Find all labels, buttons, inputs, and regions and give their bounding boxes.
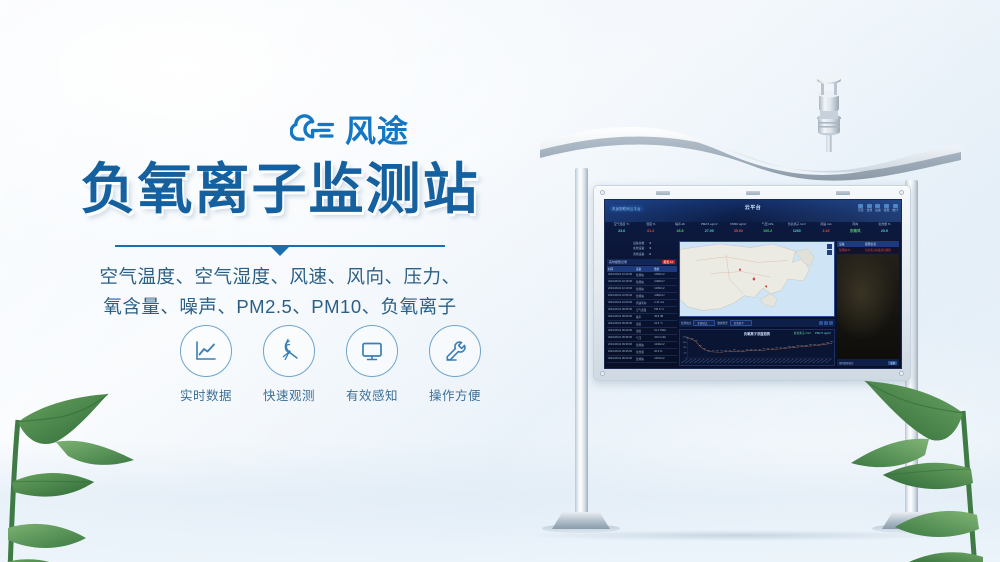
trend-chart[interactable]: 负氧离子浓度趋势 负氧离子 /cm³ PM2.5 ug/m³ 055011001… — [679, 329, 835, 366]
svg-text:880: 880 — [767, 348, 770, 350]
dashboard-title: 云平台 — [605, 204, 901, 211]
support-post-left — [575, 168, 588, 516]
chart-zoom-out-button[interactable] — [824, 321, 828, 325]
table-cell: 45.8 dB — [653, 314, 677, 320]
table-row[interactable]: 2023-08-01 09:30:00监测站1240/cm³ — [607, 342, 677, 349]
svg-text:1960: 1960 — [690, 338, 694, 340]
map-zoom-in-button[interactable] — [827, 244, 832, 249]
svg-text:1480: 1480 — [826, 342, 830, 344]
dashboard-body: 设备总数3在线设备3离线设备0 实时报警记录 报警 12 时间设备数值2023-… — [607, 241, 899, 366]
brand-name: 风途 — [345, 116, 409, 147]
device-summary-row: 离线设备0 — [607, 252, 677, 257]
frame-screw — [899, 190, 904, 195]
right-panel: 设备 报警信息 监测站 01 负氧离子浓度超出阈值 现场视频监控 全屏 — [837, 241, 899, 366]
alert-section-header: 实时报警记录 报警 12 — [607, 259, 677, 265]
table-cell: PM 27.0 — [653, 307, 677, 313]
svg-text:1100: 1100 — [792, 346, 795, 348]
kpi-value: 2.10 — [811, 229, 840, 233]
table-cell: 2023-08-01 09:50:00 — [607, 314, 635, 320]
feature-item-realtime-data: 实时数据 — [178, 325, 234, 404]
svg-text:790: 790 — [754, 349, 757, 351]
table-cell: 监测站 — [635, 293, 653, 299]
svg-text:900: 900 — [771, 348, 774, 350]
kpi-card: 噪声 db45.8 — [665, 222, 694, 240]
feature-label: 实时数据 — [178, 385, 234, 404]
svg-text:1290: 1290 — [813, 344, 817, 346]
svg-text:550: 550 — [684, 352, 687, 354]
video-fullscreen-button[interactable]: 全屏 — [888, 361, 897, 365]
nav-label: 报警 — [884, 208, 890, 212]
kpi-value: 1260 — [782, 229, 811, 233]
svg-text:1700: 1700 — [695, 340, 699, 342]
svg-text:860: 860 — [703, 348, 706, 350]
table-cell: 20.9 % — [653, 349, 677, 355]
kpi-card: PM2.5 ug/m³27.00 — [695, 222, 724, 240]
page-title: 负氧离子监测站 — [0, 160, 560, 219]
kpi-label: 风向 — [841, 223, 870, 227]
table-row[interactable]: 2023-08-01 10:05:00监测站1180/cm³ — [607, 293, 677, 300]
table-cell: 2023-08-01 10:20:05 — [607, 272, 635, 278]
table-row[interactable]: 2023-08-01 09:25:00氧含量20.9 % — [607, 349, 677, 356]
table-cell: 100.2 kPa — [653, 335, 677, 341]
dashboard-logo: 风途物联网云平台 — [609, 205, 644, 212]
map-station-label: 监测站点 — [681, 321, 691, 325]
kpi-value: 100.2 — [753, 229, 782, 233]
kpi-label: 噪声 db — [665, 223, 694, 227]
map-station-select[interactable]: 全部站点 — [693, 320, 715, 326]
brand-logo: 风途 — [290, 114, 409, 148]
feature-item-fast-observation: 快速观测 — [261, 325, 317, 404]
table-cell: 2023-08-01 10:00:00 — [607, 300, 635, 306]
map-controls: 监测站点 全部站点 数据类型 负氧离子 — [679, 319, 835, 327]
parameter-list: 空气温度、空气湿度、风速、风向、压力、 氧含量、噪声、PM2.5、PM10、负氧… — [0, 262, 560, 321]
nav-label: 设备 — [875, 208, 881, 212]
svg-text:610: 610 — [720, 350, 723, 352]
kpi-card: 湿度 %61.2 — [636, 222, 665, 240]
kpi-card: 气压 kPa100.2 — [753, 222, 782, 240]
table-cell: 1198/cm³ — [653, 279, 677, 285]
table-row[interactable]: 2023-08-01 10:15:00监测站1198/cm³ — [607, 279, 677, 286]
kpi-card: 风速 m/s2.10 — [811, 222, 840, 240]
svg-text:705: 705 — [737, 349, 740, 351]
table-cell: 2023-08-01 10:05:00 — [607, 293, 635, 299]
frame-screw — [899, 371, 904, 376]
kpi-label: 湿度 % — [636, 223, 665, 227]
kpi-card: PM10 ug/m³35.00 — [724, 222, 753, 240]
divider — [115, 245, 445, 256]
table-row[interactable]: 2023-08-01 09:55:00空气质量PM 27.0 — [607, 307, 677, 314]
table-cell: 23.6 ℃ — [653, 321, 677, 327]
kpi-value: 20.9 — [870, 229, 899, 233]
wrench-icon — [429, 325, 481, 377]
kpi-card: 空气温度 ℃23.6 — [607, 222, 636, 240]
nav-label: 首页 — [858, 208, 864, 212]
chart-reset-button[interactable] — [829, 321, 833, 325]
table-cell: 氧含量 — [635, 349, 653, 355]
chart-zoom-in-button[interactable] — [819, 321, 823, 325]
monitor-icon — [346, 325, 398, 377]
table-cell: 2023-08-01 09:35:00 — [607, 335, 635, 341]
radar-signal-icon — [263, 325, 315, 377]
base-foot-left — [552, 512, 610, 529]
table-row[interactable]: 2023-08-01 09:40:00湿度61.2 %RH — [607, 328, 677, 335]
svg-text:960: 960 — [780, 347, 783, 349]
svg-text:1330: 1330 — [817, 344, 821, 346]
table-cell: 2023-08-01 09:20:00 — [607, 356, 635, 362]
feature-label: 快速观测 — [261, 385, 317, 404]
svg-text:1400: 1400 — [822, 343, 826, 345]
device-summary: 设备总数3在线设备3离线设备0 — [607, 241, 677, 257]
svg-text:640: 640 — [712, 350, 715, 352]
svg-text:700: 700 — [729, 350, 732, 352]
nav-item-stats[interactable]: 统计 — [892, 204, 898, 212]
marketing-copy: 风途 负氧离子监测站 空气温度、空气湿度、风速、风向、压力、 氧含量、噪声、PM… — [0, 0, 560, 562]
kpi-label: PM10 ug/m³ — [724, 223, 753, 227]
svg-text:700: 700 — [708, 350, 711, 352]
table-cell: 1180/cm³ — [653, 293, 677, 299]
table-row[interactable]: 2023-08-01 09:50:00噪声45.8 dB — [607, 314, 677, 321]
svg-text:760: 760 — [746, 349, 749, 351]
feature-item-easy-operation: 操作方便 — [427, 325, 483, 404]
nav-label: 统计 — [892, 208, 898, 212]
summary-value: 0 — [649, 252, 651, 257]
line-chart-icon — [180, 325, 232, 377]
frame-mount-tab — [656, 191, 670, 195]
svg-text:820: 820 — [763, 348, 766, 350]
kpi-value: 61.2 — [636, 229, 665, 233]
alert-title: 实时报警记录 — [609, 260, 627, 264]
table-cell: 噪声 — [635, 314, 653, 320]
kpi-label: 空气温度 ℃ — [607, 223, 636, 227]
center-panel: 监测站点 全部站点 数据类型 负氧离子 负氧离子浓度趋势 — [679, 241, 835, 366]
table-cell: 风速风向 — [635, 300, 653, 306]
video-label: 现场视频监控 — [839, 361, 853, 365]
nav-item-device[interactable]: 设备 — [875, 204, 881, 212]
table-cell: 湿度 — [635, 328, 653, 334]
table-cell: 监测站 — [635, 356, 653, 362]
table-cell: 1205/cm³ — [653, 286, 677, 292]
kpi-value: 东南风 — [841, 229, 870, 234]
kpi-label: PM2.5 ug/m³ — [695, 223, 724, 227]
svg-text:1560: 1560 — [830, 341, 834, 343]
feature-label: 操作方便 — [427, 385, 483, 404]
table-cell: 2023-08-01 09:25:00 — [607, 349, 635, 355]
svg-text:660: 660 — [725, 350, 728, 352]
kpi-card: 风向东南风 — [841, 222, 870, 240]
svg-text:930: 930 — [775, 347, 778, 349]
map-type-label: 数据类型 — [717, 321, 727, 325]
legend-item-2[interactable]: PM2.5 ug/m³ — [815, 331, 831, 335]
frame-mount-tab — [746, 191, 760, 195]
table-row[interactable]: 2023-08-01 10:00:00风速风向2.10 m/s — [607, 300, 677, 307]
map-zoom-out-button[interactable] — [827, 250, 832, 255]
table-cell: 1215/cm³ — [653, 356, 677, 362]
nav-item-home[interactable]: 首页 — [858, 204, 864, 212]
table-row[interactable]: 2023-08-01 09:45:00温度23.6 ℃ — [607, 321, 677, 328]
svg-text:1190: 1190 — [800, 345, 803, 347]
table-cell: 2023-08-01 09:30:00 — [607, 342, 635, 348]
svg-text:620: 620 — [716, 350, 719, 352]
alert-device: 监测站 01 — [837, 247, 863, 253]
kpi-value: 27.00 — [695, 229, 724, 233]
dashboard-nav: 首页 监测 设备 报警 — [858, 204, 898, 212]
chart-legend: 负氧离子 /cm³ PM2.5 ug/m³ — [794, 331, 831, 335]
kpi-label: 风速 m/s — [811, 223, 840, 227]
svg-text:1060: 1060 — [788, 346, 792, 348]
table-cell: 监测站 — [635, 342, 653, 348]
table-cell: 2023-08-01 10:15:00 — [607, 279, 635, 285]
svg-text:1230: 1230 — [805, 344, 809, 346]
monitoring-dashboard: 云平台 风途物联网云平台 首页 监测 设备 — [605, 200, 901, 368]
table-cell: 1260/cm³ — [653, 272, 677, 278]
table-cell: 2.10 m/s — [653, 300, 677, 306]
table-cell: 61.2 %RH — [653, 328, 677, 334]
alert-row[interactable]: 监测站 01 负氧离子浓度超出阈值 — [837, 247, 899, 253]
svg-text:1150: 1150 — [796, 345, 799, 347]
kpi-value: 35.00 — [724, 229, 753, 233]
kpi-value: 45.8 — [665, 229, 694, 233]
table-cell: 2023-08-01 09:55:00 — [607, 307, 635, 313]
feature-item-effective-sensing: 有效感知 — [344, 325, 400, 404]
feature-list: 实时数据 快速观测 — [178, 325, 483, 404]
kpi-row: 空气温度 ℃23.6湿度 %61.2噪声 db45.8PM2.5 ug/m³27… — [607, 222, 899, 240]
parameter-line-2: 氧含量、噪声、PM2.5、PM10、负氧离子 — [0, 292, 560, 322]
table-row[interactable]: 2023-08-01 10:10:00监测站1205/cm³ — [607, 286, 677, 293]
wave-canopy — [538, 122, 963, 188]
nav-item-monitor[interactable]: 监测 — [867, 204, 873, 212]
svg-text:1260: 1260 — [809, 344, 813, 346]
table-cell: 监测站 — [635, 279, 653, 285]
lcd-screen[interactable]: 云平台 风途物联网云平台 首页 监测 设备 — [604, 199, 902, 369]
left-panel: 设备总数3在线设备3离线设备0 实时报警记录 报警 12 时间设备数值2023-… — [607, 241, 677, 366]
ultrasonic-weather-sensor — [809, 70, 849, 152]
table-row[interactable]: 2023-08-01 09:35:00气压100.2 kPa — [607, 335, 677, 342]
lcd-display-frame: 云平台 风途物联网云平台 首页 监测 设备 — [593, 185, 911, 381]
kpi-label: 负氧离子 /cm³ — [782, 223, 811, 227]
kpi-value: 23.6 — [607, 229, 636, 233]
svg-text:1100: 1100 — [683, 347, 687, 349]
nav-item-alarm[interactable]: 报警 — [884, 204, 890, 212]
video-feed[interactable]: 现场视频监控 全屏 — [837, 254, 899, 366]
nav-label: 监测 — [867, 208, 873, 212]
svg-text:1650: 1650 — [683, 342, 687, 344]
svg-text:1010: 1010 — [783, 347, 787, 349]
kpi-card: 氧含量 %20.9 — [870, 222, 899, 240]
fengtu-logo-icon — [290, 114, 336, 148]
alert-count-badge: 报警 12 — [662, 260, 675, 264]
table-row[interactable]: 2023-08-01 09:20:00监测站1215/cm³ — [607, 356, 677, 363]
base-foot-right — [882, 512, 940, 529]
table-cell: 监测站 — [635, 272, 653, 278]
frame-screw — [600, 190, 605, 195]
table-cell: 温度 — [635, 321, 653, 327]
svg-text:775: 775 — [758, 349, 761, 351]
video-toolbar: 现场视频监控 全屏 — [837, 359, 899, 366]
map-type-select[interactable]: 负氧离子 — [730, 320, 752, 326]
station-map[interactable] — [679, 241, 835, 317]
svg-text:800: 800 — [750, 349, 753, 351]
table-cell: 2023-08-01 10:10:00 — [607, 286, 635, 292]
kpi-label: 氧含量 % — [870, 223, 899, 227]
frame-mount-tab — [836, 191, 850, 195]
parameter-line-1: 空气温度、空气湿度、风速、风向、压力、 — [0, 262, 560, 292]
frame-screw — [600, 371, 605, 376]
divider-arrow-icon — [271, 247, 289, 256]
table-cell: 2023-08-01 09:45:00 — [607, 321, 635, 327]
svg-text:720: 720 — [733, 349, 736, 351]
feature-label: 有效感知 — [344, 385, 400, 404]
table-cell: 气压 — [635, 335, 653, 341]
kpi-label: 气压 kPa — [753, 223, 782, 227]
monitoring-station: 云平台 风途物联网云平台 首页 监测 设备 — [520, 60, 980, 540]
svg-text:690: 690 — [742, 350, 745, 352]
legend-item-1[interactable]: 负氧离子 /cm³ — [794, 331, 811, 335]
table-cell: 1240/cm³ — [653, 342, 677, 348]
kpi-card: 负氧离子 /cm³1260 — [782, 222, 811, 240]
records-table[interactable]: 时间设备数值2023-08-01 10:20:05监测站1260/cm³2023… — [607, 266, 677, 363]
table-cell: 监测站 — [635, 286, 653, 292]
table-cell: 2023-08-01 09:40:00 — [607, 328, 635, 334]
summary-label: 离线设备 — [633, 252, 644, 257]
table-cell: 空气质量 — [635, 307, 653, 313]
table-row[interactable]: 2023-08-01 10:20:05监测站1260/cm³ — [607, 272, 677, 279]
alert-message: 负氧离子浓度超出阈值 — [863, 247, 893, 253]
